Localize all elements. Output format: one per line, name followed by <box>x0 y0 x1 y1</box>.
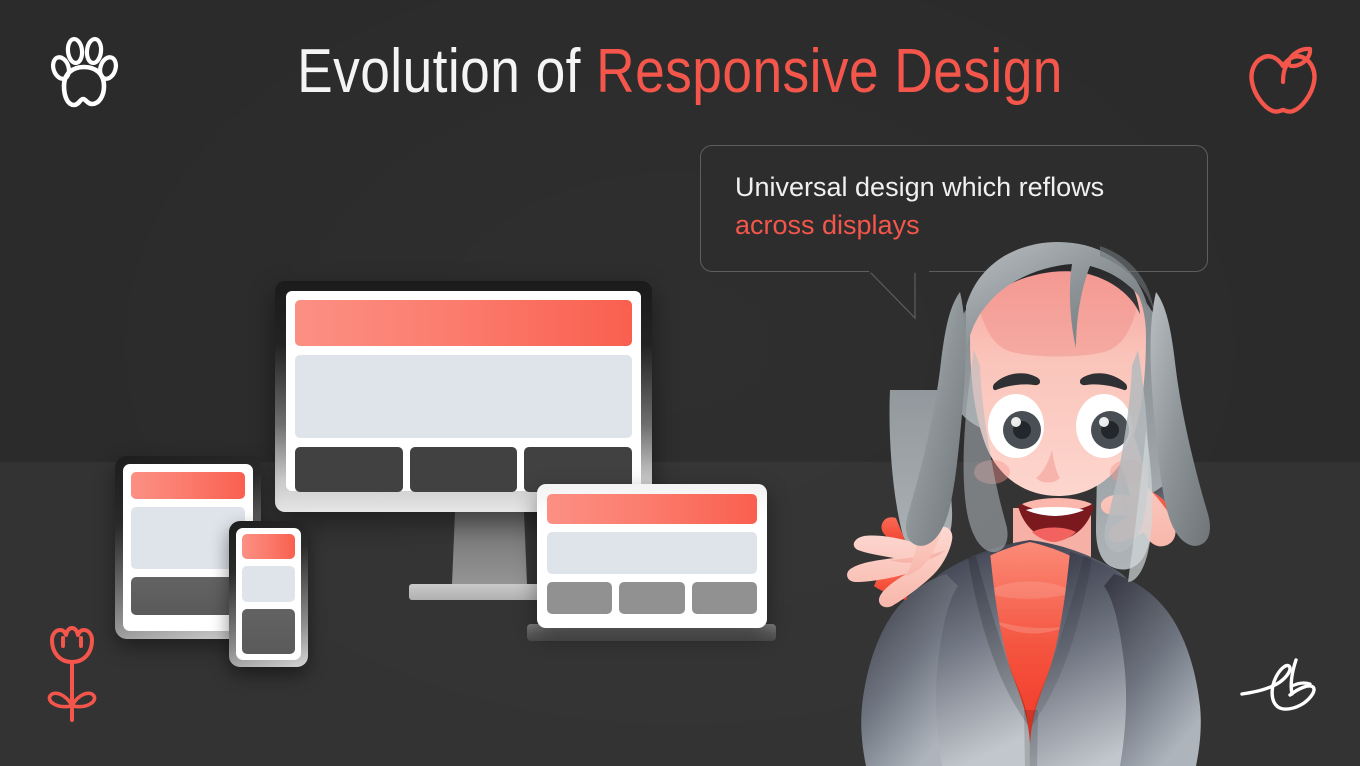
device-desktop-monitor[interactable] <box>275 281 652 512</box>
monitor-card-2 <box>410 447 518 492</box>
tablet-content-panel <box>131 507 245 569</box>
monitor-screen <box>286 291 641 491</box>
device-phone[interactable] <box>229 521 308 667</box>
laptop-content-panel <box>547 532 757 574</box>
apple-icon <box>1244 36 1322 123</box>
device-mockups-group <box>0 0 820 766</box>
device-laptop[interactable] <box>537 484 767 628</box>
phone-screen <box>236 528 301 660</box>
monitor-content-panel <box>295 355 632 438</box>
monitor-header-bar <box>295 300 632 346</box>
monitor-card-1 <box>295 447 403 492</box>
laptop-header-bar <box>547 494 757 524</box>
monitor-stand-neck <box>452 512 527 584</box>
phone-header-bar <box>242 534 295 559</box>
phone-card-1 <box>242 609 295 654</box>
laptop-card-1 <box>547 582 612 614</box>
laptop-card-3 <box>692 582 757 614</box>
laptop-card-2 <box>619 582 684 614</box>
tablet-header-bar <box>131 472 245 499</box>
tablet-card-1 <box>131 577 245 615</box>
phone-content-panel <box>242 566 295 602</box>
woman-presenter-illustration <box>770 240 1290 766</box>
slide-canvas: Evolution of Responsive Design <box>0 0 1360 766</box>
